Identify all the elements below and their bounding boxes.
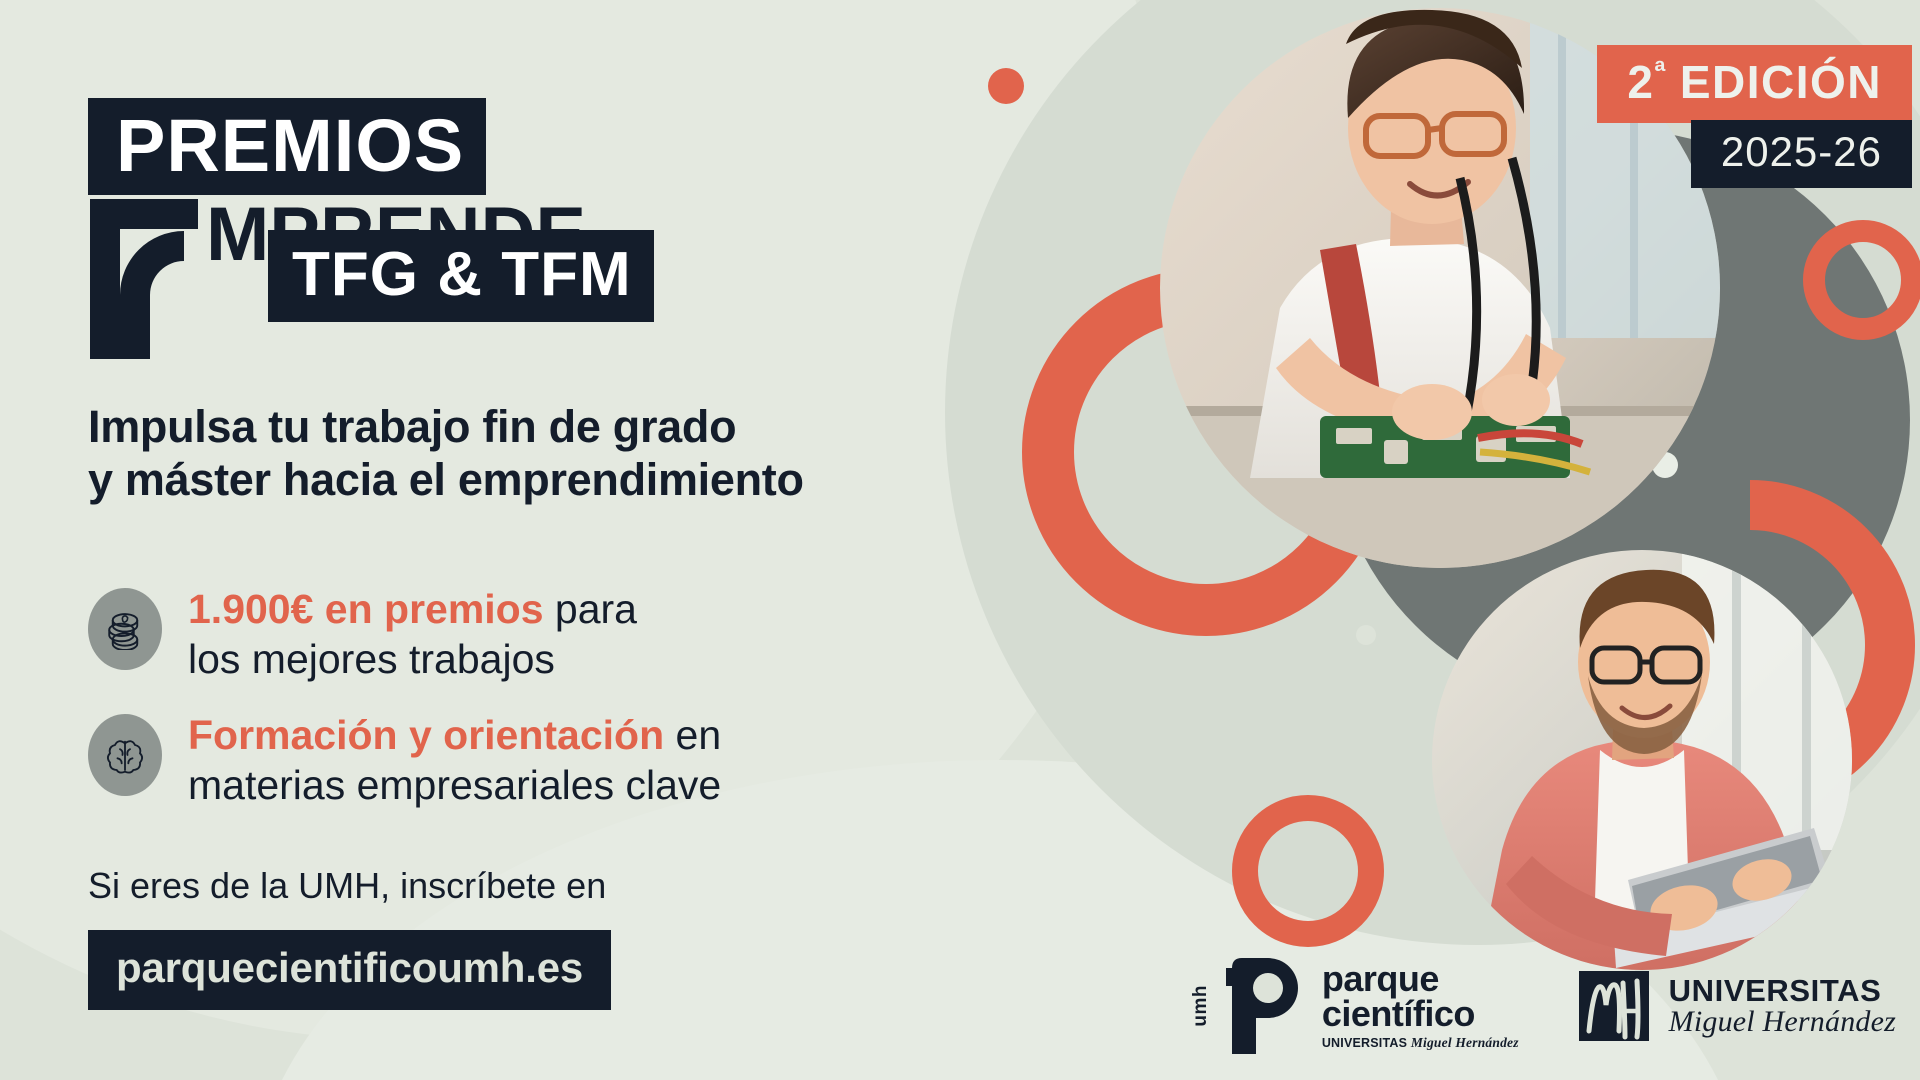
coral-ring-large bbox=[1232, 795, 1384, 947]
title-block: PREMIOS MPRENDE TFG & TFM bbox=[88, 98, 768, 297]
cta-text: Si eres de la UMH, inscríbete en bbox=[88, 865, 606, 907]
coins-stack-icon bbox=[88, 588, 162, 670]
logo-row: umh parque científico UNIVERSITAS Miguel… bbox=[1190, 958, 1896, 1054]
brain-icon bbox=[88, 714, 162, 796]
left-content-column: PREMIOS MPRENDE TFG & TFM Impulsa tu tra… bbox=[0, 0, 1000, 1080]
coral-ring-small bbox=[1803, 220, 1920, 340]
p-logo-icon bbox=[1226, 958, 1308, 1054]
poster-canvas: 2ª EDICIÓN 2025-26 PREMIOS MPRENDE TFG &… bbox=[0, 0, 1920, 1080]
title-line-tfg-tfm: TFG & TFM bbox=[268, 230, 654, 322]
benefit-2-rest: en bbox=[664, 712, 721, 758]
logo-universitas-word-2: Miguel Hernández bbox=[1669, 1007, 1896, 1038]
photo-student-laptop bbox=[1432, 550, 1852, 970]
logo-parque-sub-italic: Miguel Hernández bbox=[1411, 1035, 1519, 1050]
logo-universitas-miguel-hernandez: UNIVERSITAS Miguel Hernández bbox=[1575, 967, 1896, 1045]
badge-year: 2025-26 bbox=[1691, 120, 1912, 188]
list-item-text: 1.900€ en premios para los mejores traba… bbox=[188, 582, 637, 684]
benefit-2-highlight: Formación y orientación bbox=[188, 712, 664, 758]
benefit-1-rest: para bbox=[544, 586, 637, 632]
emprende-e-logo-icon bbox=[90, 199, 198, 359]
subtitle-line-1: Impulsa tu trabajo fin de grado bbox=[88, 400, 848, 453]
website-url-badge[interactable]: parquecientificoumh.es bbox=[88, 930, 611, 1010]
logo-parque-cientifico: umh parque científico UNIVERSITAS Miguel… bbox=[1190, 958, 1519, 1054]
logo-universitas-wordmark: UNIVERSITAS Miguel Hernández bbox=[1669, 975, 1896, 1037]
benefit-2-line-2: materias empresariales clave bbox=[188, 760, 721, 810]
light-dot-decoration-2 bbox=[1356, 625, 1376, 645]
benefits-list: 1.900€ en premios para los mejores traba… bbox=[88, 582, 918, 834]
logo-parque-subline: UNIVERSITAS Miguel Hernández bbox=[1322, 1037, 1519, 1050]
logo-parque-word-1: parque bbox=[1322, 962, 1519, 997]
list-item: 1.900€ en premios para los mejores traba… bbox=[88, 582, 918, 684]
badge-edition-word: EDICIÓN bbox=[1680, 56, 1882, 108]
subtitle: Impulsa tu trabajo fin de grado y máster… bbox=[88, 400, 848, 506]
badge-edition-ordinal: ª bbox=[1654, 56, 1665, 89]
benefit-1-line-2: los mejores trabajos bbox=[188, 634, 637, 684]
logo-parque-word-2: científico bbox=[1322, 997, 1519, 1032]
mh-monogram-icon bbox=[1575, 967, 1653, 1045]
list-item: Formación y orientación en materias empr… bbox=[88, 708, 918, 810]
subtitle-line-2: y máster hacia el emprendimiento bbox=[88, 453, 848, 506]
logo-parque-umh-vertical: umh bbox=[1190, 985, 1212, 1027]
badge-edition: 2ª EDICIÓN bbox=[1597, 45, 1912, 123]
benefit-1-highlight: 1.900€ en premios bbox=[188, 586, 544, 632]
title-line-premios: PREMIOS bbox=[88, 98, 486, 195]
list-item-text: Formación y orientación en materias empr… bbox=[188, 708, 721, 810]
logo-parque-wordmark: parque científico UNIVERSITAS Miguel Her… bbox=[1322, 962, 1519, 1049]
logo-universitas-word-1: UNIVERSITAS bbox=[1669, 975, 1896, 1007]
logo-parque-sub-bold: UNIVERSITAS bbox=[1322, 1036, 1407, 1050]
badge-edition-number: 2 bbox=[1627, 56, 1654, 108]
